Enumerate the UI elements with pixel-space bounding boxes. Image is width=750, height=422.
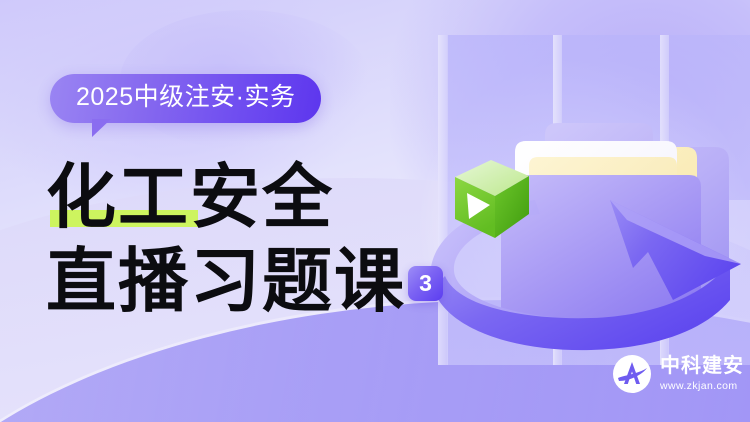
brand-name: 中科建安: [660, 356, 744, 376]
course-category-badge: 2025中级注安·实务: [50, 74, 321, 123]
headline-line-2-text: 直播习题课: [46, 244, 406, 321]
episode-number-badge: 3: [408, 266, 443, 301]
badge-tail: [92, 119, 111, 137]
headline: 化工安全 直播习题课3: [46, 158, 476, 322]
headline-line-2: 直播习题课3: [46, 242, 476, 322]
brand-logo-text: 中科建安 www.zkjan.com: [660, 356, 744, 392]
zkjan-circle-mark-icon: [612, 354, 652, 394]
headline-line-1: 化工安全: [46, 158, 476, 238]
course-banner: 2025中级注安·实务 化工安全 直播习题课3 中科建安 www.zkjan.c…: [0, 0, 750, 422]
course-category-label: 2025中级注安·实务: [50, 74, 321, 123]
brand-logo: 中科建安 www.zkjan.com: [612, 354, 744, 394]
headline-line-1-text: 化工安全: [46, 160, 334, 237]
brand-url: www.zkjan.com: [660, 381, 744, 392]
